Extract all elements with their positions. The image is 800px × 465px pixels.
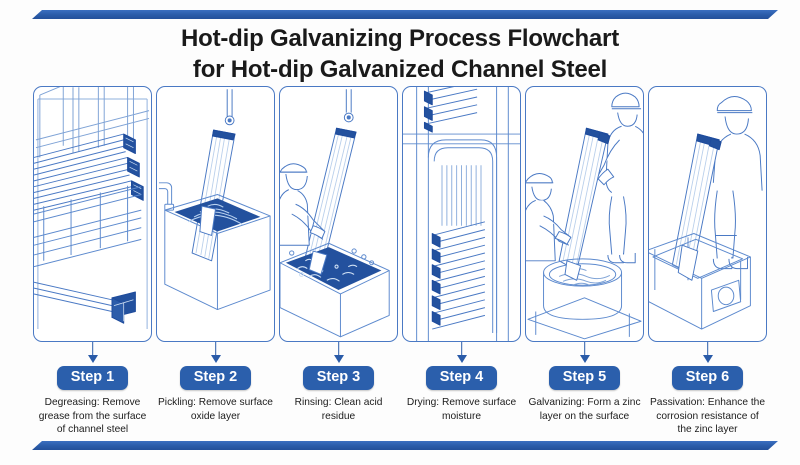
step-caption: Pickling: Remove surface oxide layer xyxy=(157,396,275,423)
step-badge[interactable]: Step 2 xyxy=(180,366,252,390)
panel-step-2[interactable] xyxy=(156,86,275,342)
step-caption: Galvanizing: Form a zinc layer on the su… xyxy=(526,396,644,423)
title-line-1: Hot-dip Galvanizing Process Flowchart xyxy=(181,25,619,52)
panel-step-6[interactable] xyxy=(648,86,767,342)
arrow-down-icon xyxy=(88,355,98,363)
arrow-down-icon xyxy=(211,355,221,363)
title-line-2: for Hot-dip Galvanized Channel Steel xyxy=(0,55,800,86)
arrow-down-icon xyxy=(334,355,344,363)
step-badge[interactable]: Step 3 xyxy=(303,366,375,390)
step-3: Step 3 Rinsing: Clean acid residue xyxy=(279,366,398,437)
illustration-zinc-kettle-two-workers xyxy=(526,87,643,341)
step-4: Step 4 Drying: Remove surface moisture xyxy=(402,366,521,437)
step-badge[interactable]: Step 6 xyxy=(672,366,744,390)
illustration-channel-steel-rack xyxy=(34,87,151,341)
panel-step-3[interactable] xyxy=(279,86,398,342)
step-2: Step 2 Pickling: Remove surface oxide la… xyxy=(156,366,275,437)
arrow-down-icon xyxy=(457,355,467,363)
step-5: Step 5 Galvanizing: Form a zinc layer on… xyxy=(525,366,644,437)
connector-step-5 xyxy=(525,342,644,366)
step-caption: Drying: Remove surface moisture xyxy=(403,396,521,423)
connector-step-6 xyxy=(648,342,767,366)
illustration-acid-dip-tank xyxy=(157,87,274,341)
step-row: Step 1 Degreasing: Remove grease from th… xyxy=(33,366,767,437)
step-1: Step 1 Degreasing: Remove grease from th… xyxy=(33,366,152,437)
panel-step-4[interactable] xyxy=(402,86,521,342)
step-caption: Degreasing: Remove grease from the surfa… xyxy=(34,396,152,436)
illustration-rinse-tank-worker xyxy=(280,87,397,341)
step-6: Step 6 Passivation: Enhance the corrosio… xyxy=(648,366,767,437)
step-badge[interactable]: Step 5 xyxy=(549,366,621,390)
arrow-down-icon xyxy=(580,355,590,363)
connector-step-1 xyxy=(33,342,152,366)
bottom-accent-bar xyxy=(32,441,778,450)
infographic-page: Hot-dip Galvanizing Process Flowchart fo… xyxy=(0,0,800,465)
connector-step-2 xyxy=(156,342,275,366)
step-caption: Passivation: Enhance the corrosion resis… xyxy=(649,396,767,436)
panel-step-5[interactable] xyxy=(525,86,644,342)
illustration-drying-oven xyxy=(403,87,520,341)
panel-step-1[interactable] xyxy=(33,86,152,342)
panel-strip xyxy=(33,86,767,342)
step-badge[interactable]: Step 1 xyxy=(57,366,129,390)
connector-step-4 xyxy=(402,342,521,366)
page-title: Hot-dip Galvanizing Process Flowchart fo… xyxy=(0,24,800,85)
step-caption: Rinsing: Clean acid residue xyxy=(280,396,398,423)
arrow-down-icon xyxy=(703,355,713,363)
connector-row xyxy=(33,342,767,366)
step-badge[interactable]: Step 4 xyxy=(426,366,498,390)
top-accent-bar xyxy=(32,10,778,19)
connector-step-3 xyxy=(279,342,398,366)
illustration-passivation-tank-worker xyxy=(649,87,766,341)
